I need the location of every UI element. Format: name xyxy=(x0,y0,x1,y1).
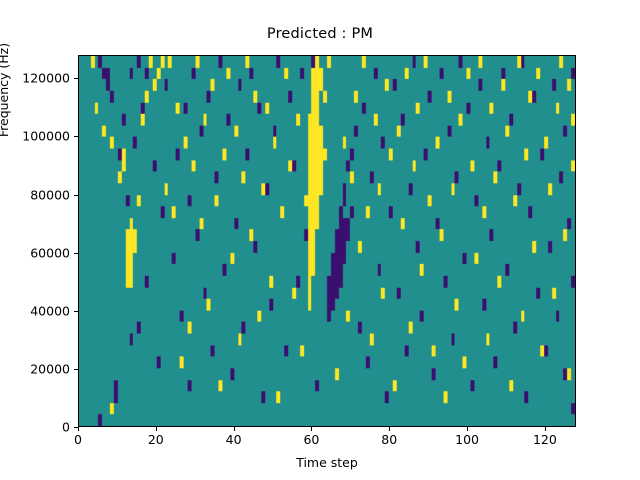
x-tick-mark xyxy=(78,427,79,431)
chart-title: Predicted : PM xyxy=(0,26,640,42)
y-axis-label: Frequency (Hz) xyxy=(0,0,11,190)
x-tick-label: 60 xyxy=(303,432,319,447)
heatmap-axes[interactable] xyxy=(78,55,576,427)
x-tick-mark xyxy=(234,427,235,431)
x-tick-mark xyxy=(389,427,390,431)
y-tick-label: 20000 xyxy=(30,361,70,376)
x-tick-label: 100 xyxy=(455,432,479,447)
y-tick-mark xyxy=(74,78,78,79)
y-tick-label: 100000 xyxy=(22,129,70,144)
x-tick-label: 0 xyxy=(74,432,82,447)
x-tick-mark xyxy=(545,427,546,431)
y-tick-mark xyxy=(74,311,78,312)
y-tick-mark xyxy=(74,369,78,370)
x-tick-label: 40 xyxy=(226,432,242,447)
y-tick-label: 40000 xyxy=(30,303,70,318)
figure-canvas: Predicted : PM Frequency (Hz) Time step … xyxy=(0,0,640,480)
y-tick-label: 60000 xyxy=(30,245,70,260)
y-tick-mark xyxy=(74,195,78,196)
y-tick-label: 80000 xyxy=(30,187,70,202)
y-tick-mark xyxy=(74,136,78,137)
y-tick-label: 0 xyxy=(62,420,70,435)
y-tick-label: 120000 xyxy=(22,71,70,86)
x-tick-label: 80 xyxy=(381,432,397,447)
y-tick-mark xyxy=(74,253,78,254)
x-tick-mark xyxy=(311,427,312,431)
x-tick-mark xyxy=(467,427,468,431)
x-tick-label: 20 xyxy=(148,432,164,447)
x-tick-mark xyxy=(156,427,157,431)
x-tick-label: 120 xyxy=(533,432,557,447)
heatmap-image xyxy=(79,56,575,426)
x-axis-label: Time step xyxy=(78,455,576,470)
